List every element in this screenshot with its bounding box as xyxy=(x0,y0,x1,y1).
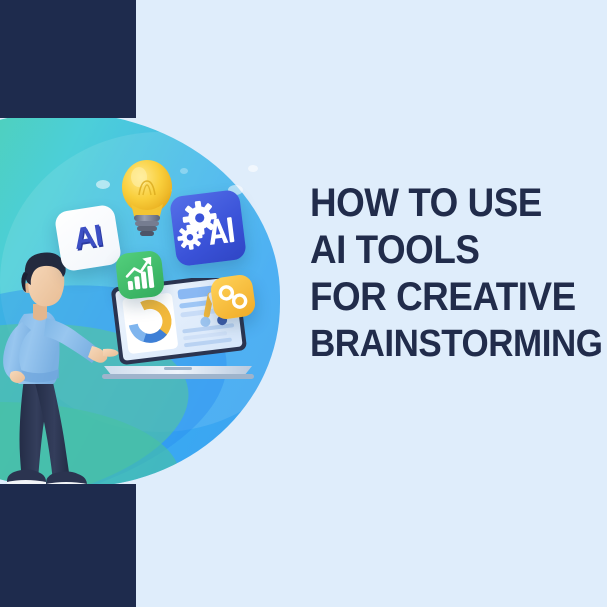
title-line-4: BRAINSTORMING xyxy=(310,321,577,368)
title-line-1: HOW TO USE xyxy=(310,180,577,227)
cloud-puff-icon xyxy=(180,168,188,174)
bar-chart-up-glyph xyxy=(115,250,166,301)
navy-block-bottom xyxy=(0,484,136,607)
title-line-3: FOR CREATIVE xyxy=(310,274,577,321)
title-line-2: AI TOOLS xyxy=(310,227,577,274)
cloud-puff-icon xyxy=(248,165,258,172)
character-illustration xyxy=(0,250,120,495)
link-yellow-card-icon xyxy=(209,273,256,320)
poster-canvas: AI xyxy=(0,0,607,607)
page-title: HOW TO USE AI TOOLS FOR CREATIVE BRAINST… xyxy=(310,180,600,368)
navy-block-top xyxy=(0,0,136,118)
link-glyph xyxy=(209,273,256,320)
gears-ai-blue-card-icon xyxy=(169,189,247,267)
cloud-puff-icon xyxy=(96,180,110,189)
lightbulb-icon xyxy=(117,157,177,239)
ai-white-card-icon: AI xyxy=(54,204,123,273)
bar-chart-green-card-icon xyxy=(115,250,166,301)
gears-ai-glyph xyxy=(169,189,247,267)
ai-card-label: AI xyxy=(72,219,105,257)
